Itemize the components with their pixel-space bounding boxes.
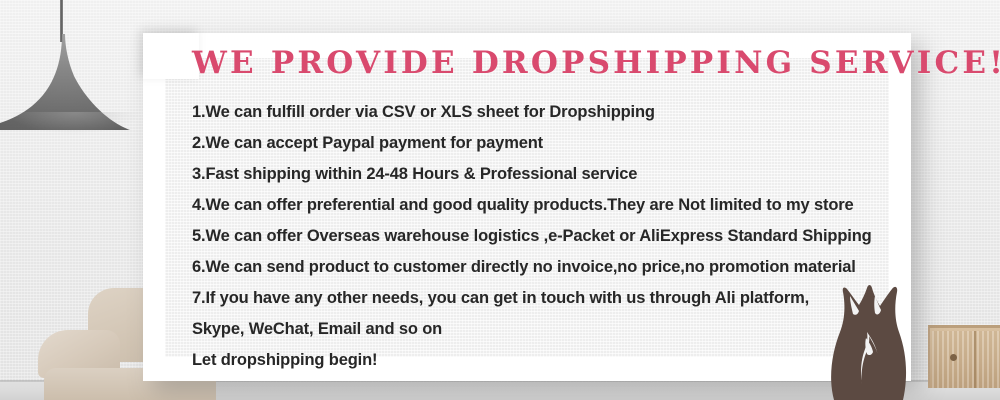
list-item: 1.We can fulfill order via CSV or XLS sh… xyxy=(192,97,892,128)
panel-corner-notch xyxy=(143,33,199,79)
list-item: 4.We can offer preferential and good qua… xyxy=(192,190,892,221)
list-item: 5.We can offer Overseas warehouse logist… xyxy=(192,221,892,252)
service-list: 1.We can fulfill order via CSV or XLS sh… xyxy=(192,97,892,376)
pendant-lamp-icon xyxy=(0,0,150,129)
page-title: WE PROVIDE DROPSHIPPING SERVICE! xyxy=(192,46,892,80)
list-item: 6.We can send product to customer direct… xyxy=(192,252,892,283)
wooden-cabinet-icon xyxy=(928,325,1000,388)
list-item: 3.Fast shipping within 24-48 Hours & Pro… xyxy=(192,159,892,190)
list-item: Skype, WeChat, Email and so on xyxy=(192,314,892,345)
list-item: 2.We can accept Paypal payment for payme… xyxy=(192,128,892,159)
banner-content: WE PROVIDE DROPSHIPPING SERVICE! 1.We ca… xyxy=(192,46,892,376)
cabinet-door-seam xyxy=(974,331,976,388)
list-item: Let dropshipping begin! xyxy=(192,345,892,376)
cabinet-knob xyxy=(950,354,957,361)
cabinet-wood-grain xyxy=(932,331,1000,388)
dropshipping-service-banner: WE PROVIDE DROPSHIPPING SERVICE! 1.We ca… xyxy=(0,0,1000,400)
list-item: 7.If you have any other needs, you can g… xyxy=(192,283,892,314)
lamp-glow xyxy=(10,112,140,134)
